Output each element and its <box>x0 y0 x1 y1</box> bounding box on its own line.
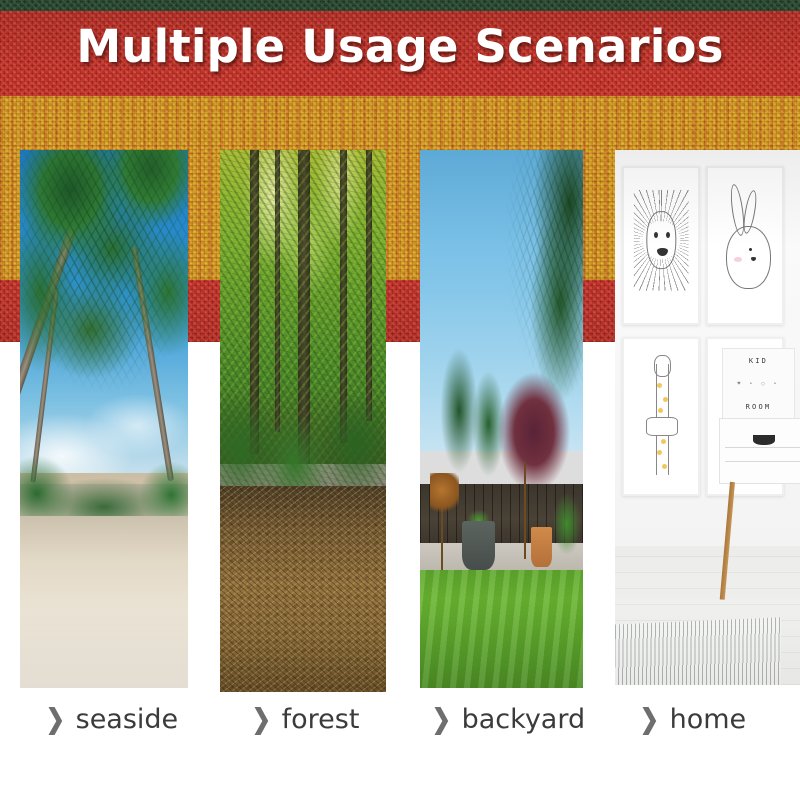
lightbox-line-middle: ♥ • ○ • <box>737 381 779 387</box>
caption-backyard: ❯ backyard <box>430 706 585 733</box>
scenario-image-backyard <box>420 150 583 688</box>
caption-seaside: ❯ seaside <box>44 706 178 733</box>
bunny-head-icon <box>726 226 771 289</box>
lion-face-icon <box>647 211 676 269</box>
scenario-showcase-image: Multiple Usage Scenarios <box>0 0 800 800</box>
chevron-right-icon: ❯ <box>252 706 271 733</box>
caption-label-seaside: seaside <box>76 706 179 733</box>
page-title: Multiple Usage Scenarios <box>0 20 800 73</box>
forest-leaf-litter <box>220 486 386 692</box>
terracotta-pot <box>531 527 552 567</box>
bunny-blush-icon <box>734 257 742 262</box>
art-print-lion <box>622 166 700 325</box>
giraffe-drawing <box>629 347 694 487</box>
caption-forest: ❯ forest <box>250 706 359 733</box>
lion-eye-icon <box>654 232 658 238</box>
caption-label-home: home <box>670 706 747 733</box>
copper-garden-ornament <box>430 473 459 516</box>
chevron-right-icon: ❯ <box>432 706 451 733</box>
lion-eye-icon <box>666 232 670 238</box>
garden-stake-icon <box>524 462 526 559</box>
lion-drawing <box>629 176 694 316</box>
lightbox-line-1: KID <box>749 357 768 365</box>
scenario-image-seaside <box>20 150 188 688</box>
console-table <box>719 418 800 484</box>
lightbox-sign: KID ♥ • ○ • ROOM <box>722 348 794 420</box>
giraffe-scarf-icon <box>646 417 678 436</box>
striped-rug <box>615 617 782 685</box>
lightbox-line-2: ROOM <box>746 403 772 411</box>
console-drawer-line <box>725 447 800 448</box>
caption-home: ❯ home <box>638 706 746 733</box>
bunny-drawing <box>712 176 777 316</box>
art-print-giraffe <box>622 337 700 496</box>
chevron-right-icon: ❯ <box>640 706 659 733</box>
caption-label-backyard: backyard <box>462 706 586 733</box>
caption-label-forest: forest <box>282 706 360 733</box>
drawer-handle-icon <box>753 435 774 445</box>
grey-planter-pot <box>462 521 495 569</box>
scenario-image-home: KID ♥ • ○ • ROOM <box>615 150 800 685</box>
backyard-mow-stripes <box>420 570 583 688</box>
chevron-right-icon: ❯ <box>46 706 65 733</box>
console-drawer-line <box>725 461 800 462</box>
giraffe-spot-icon <box>663 397 668 402</box>
seaside-shoreline-shrubs <box>20 441 188 516</box>
backyard-hedge <box>554 489 583 559</box>
art-print-bunny <box>706 166 784 325</box>
scenario-image-forest <box>220 150 386 692</box>
